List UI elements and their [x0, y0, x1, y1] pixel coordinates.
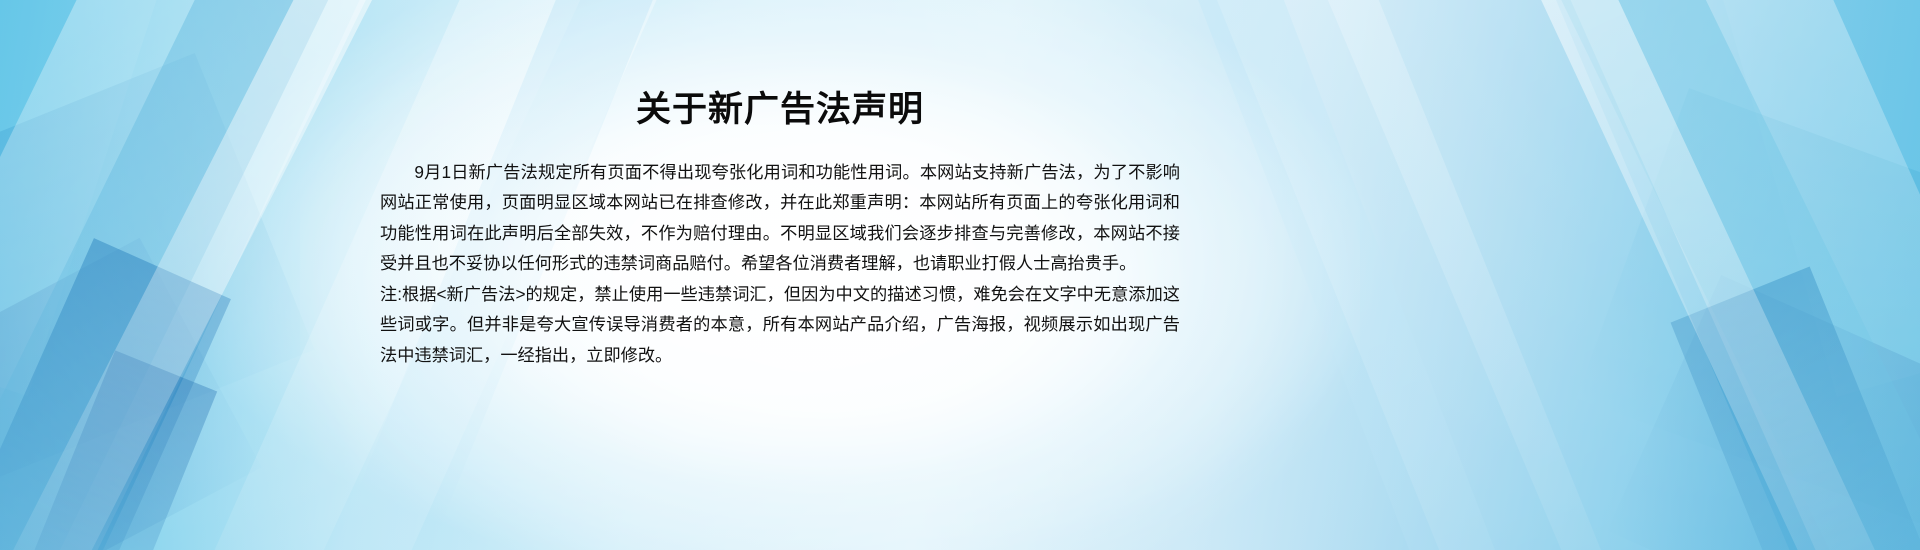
decorative-shape-left-7: [3, 350, 217, 550]
decorative-shape-right-3: [1607, 275, 1920, 550]
decorative-shape-left-6: [0, 238, 231, 550]
decorative-shape-right-1: [1716, 0, 1920, 397]
decorative-shape-left-5: [0, 0, 389, 550]
decorative-shape-right-4: [1539, 0, 1920, 550]
decorative-shape-right-2: [1576, 88, 1920, 542]
statement-paragraph-1: 9月1日新广告法规定所有页面不得出现夸张化用词和功能性用词。本网站支持新广告法，…: [380, 157, 1180, 279]
decorative-shape-right-5: [1502, 0, 1920, 550]
decorative-shape-right-7: [1510, 0, 1920, 550]
decorative-shape-left-3: [0, 238, 262, 550]
decorative-shape-left-1: [0, 0, 158, 396]
decorative-shape-right-8: [1289, 0, 1842, 550]
page-title: 关于新广告法声明: [380, 0, 1180, 132]
decorative-shape-left-8: [0, 0, 389, 550]
decorative-shape-right-9: [1162, 0, 1668, 550]
decorative-shape-right-6: [1671, 266, 1920, 550]
statement-content: 关于新广告法声明 9月1日新广告法规定所有页面不得出现夸张化用词和功能性用词。本…: [380, 0, 1180, 550]
advertising-law-statement-banner: 关于新广告法声明 9月1日新广告法规定所有页面不得出现夸张化用词和功能性用词。本…: [0, 0, 1920, 550]
decorative-shape-left-2: [0, 53, 315, 507]
statement-paragraph-2: 注:根据<新广告法>的规定，禁止使用一些违禁词汇，但因为中文的描述习惯，难免会在…: [380, 279, 1180, 371]
decorative-shape-left-4: [0, 0, 384, 550]
decorative-shape-right-10: [1161, 0, 1558, 550]
